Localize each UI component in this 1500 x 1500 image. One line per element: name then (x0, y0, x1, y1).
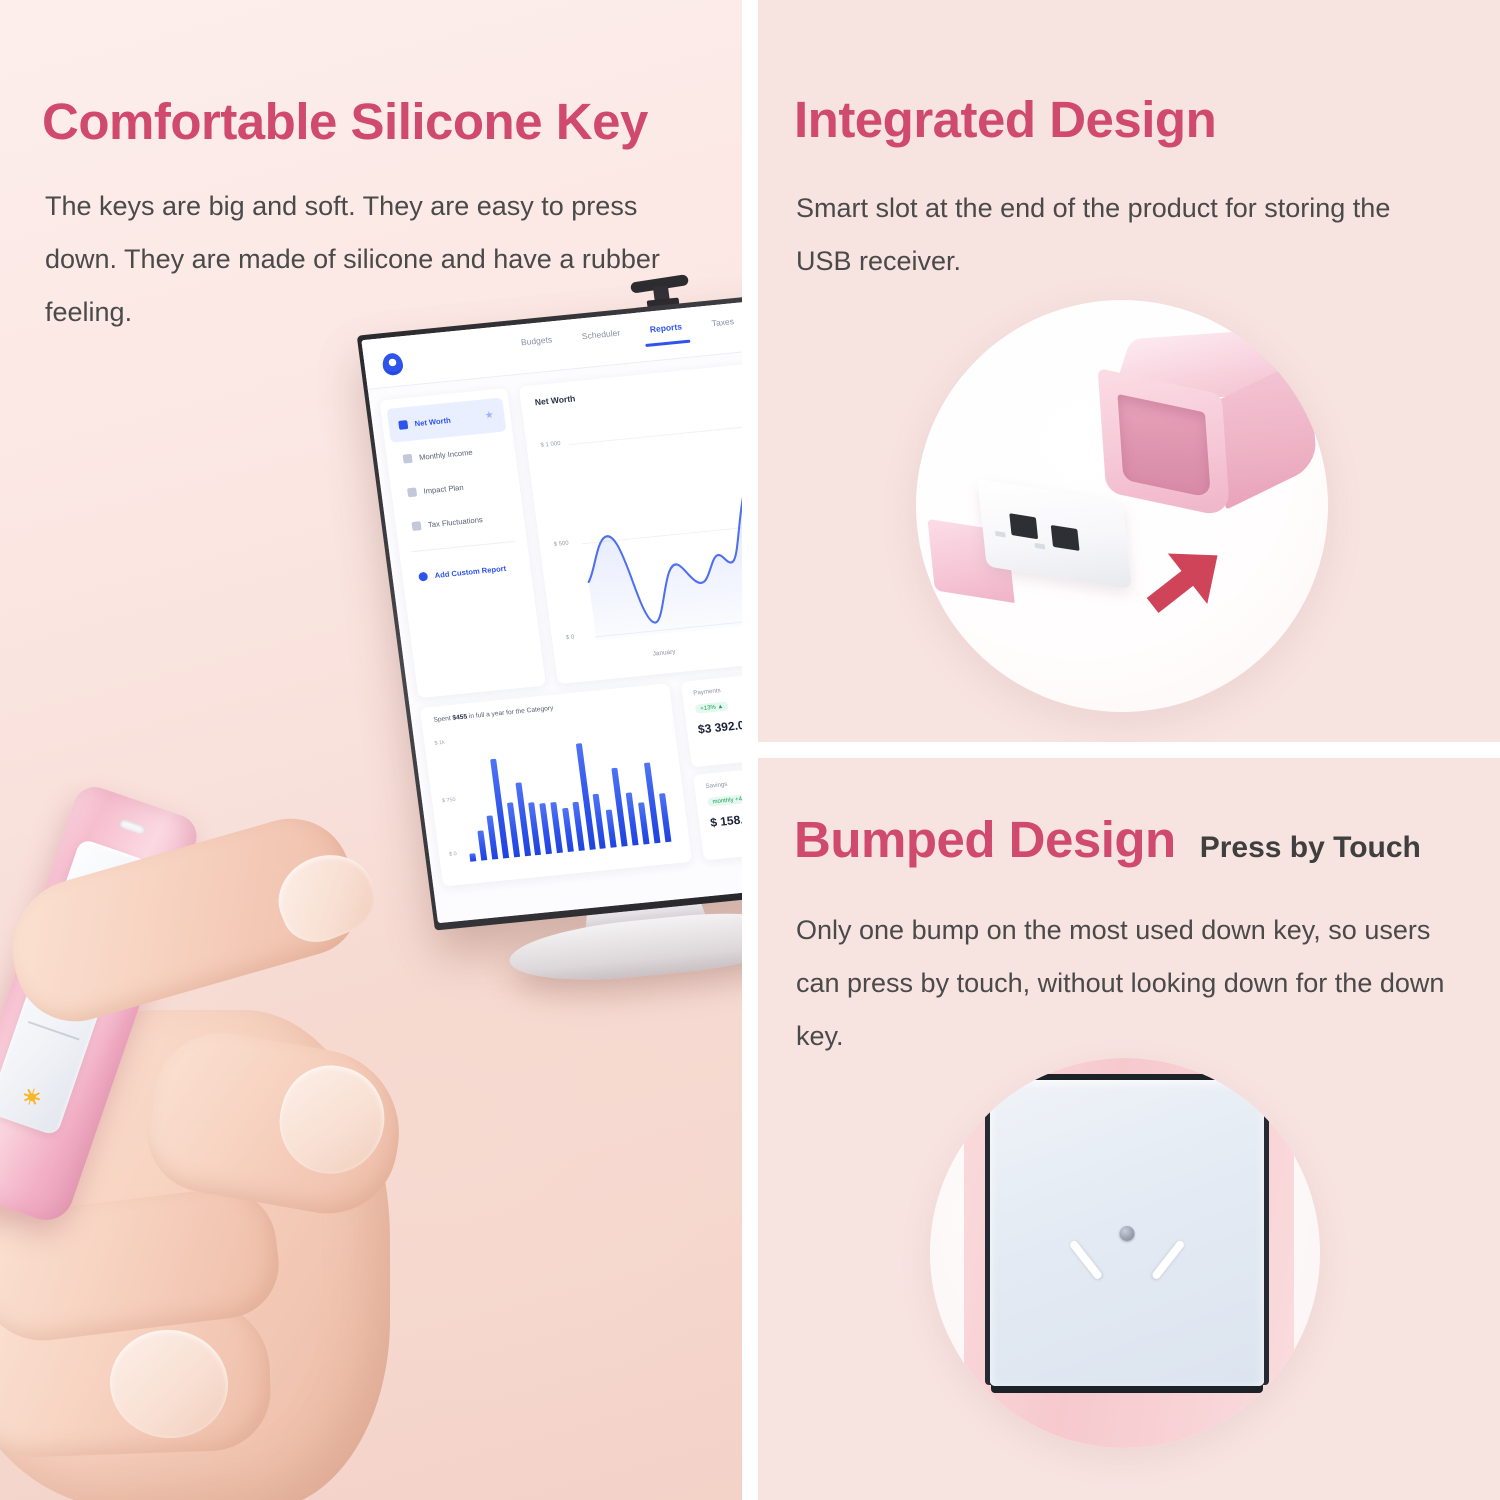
usb-receiver-dongle (925, 471, 1148, 605)
panel-body-silicone: The keys are big and soft. They are easy… (45, 180, 705, 339)
down-key[interactable] (990, 1080, 1264, 1386)
usb-receiver-illustration (916, 300, 1328, 712)
net-worth-card: Net Worth $ 1 000 $ 500 $ 0 (519, 361, 742, 684)
bulb-icon (407, 487, 417, 497)
panel-heading-integrated: Integrated Design (794, 90, 1216, 149)
panel-subheading-press-by-touch: Press by Touch (1200, 831, 1421, 865)
key-divider (28, 1021, 80, 1040)
stat-value: $3 392.00 (697, 717, 742, 736)
bar-chart-title: Spent $455 in full a year for the Catego… (433, 705, 554, 724)
bar (659, 793, 671, 842)
savings-stat-card: Savings ⋮ monthly +43% ▲ $ 158.74 (693, 761, 742, 860)
panel-heading-bumped: Bumped Design (794, 810, 1176, 869)
panel-body-bumped: Only one bump on the most used down key,… (796, 904, 1456, 1063)
panel-integrated-design: Integrated Design Smart slot at the end … (758, 0, 1500, 742)
plus-circle-icon (418, 571, 428, 581)
tab-taxes[interactable]: Taxes (711, 316, 735, 336)
sidebar-add-label: Add Custom Report (434, 563, 507, 579)
bar (540, 803, 553, 855)
bar (550, 801, 563, 853)
infographic-page: Budgets Scheduler Reports Taxes Net Wort… (0, 0, 1500, 1500)
sidebar-item-label: Net Worth (414, 415, 451, 428)
bumped-heading-row: Bumped Design Press by Touch (794, 810, 1421, 869)
panel-bumped-design: Bumped Design Press by Touch Only one bu… (758, 758, 1500, 1500)
bar (593, 793, 606, 849)
net-worth-ytick: $ 0 (566, 634, 575, 641)
sidebar-add-custom-report[interactable]: Add Custom Report (407, 549, 527, 594)
panel-comfortable-silicone-key: Budgets Scheduler Reports Taxes Net Wort… (0, 0, 742, 1500)
net-worth-xtick: January (652, 648, 676, 657)
star-icon[interactable] (485, 411, 494, 420)
chart-icon (398, 420, 408, 430)
bar-ytick: $ 1k (434, 740, 445, 747)
app-logo-icon (381, 352, 404, 376)
panel-body-integrated: Smart slot at the end of the product for… (796, 182, 1416, 288)
bar (572, 802, 584, 851)
net-worth-area-chart (568, 417, 742, 642)
payments-stat-card: Payments ⋮ +13% ▲ $3 392.00 (681, 668, 742, 767)
bar (606, 809, 617, 848)
net-worth-title: Net Worth (534, 393, 576, 407)
stat-value: $ 158.74 (709, 811, 742, 830)
hand-holding-presenter (0, 830, 520, 1500)
tactile-bump (1120, 1226, 1135, 1241)
wave-icon (411, 521, 421, 531)
stat-label: Payments (693, 687, 721, 697)
bar (562, 808, 574, 852)
dashboard-sidebar: Net Worth Monthly Income Impact Plan (379, 388, 546, 698)
sidebar-item-label: Monthly Income (418, 447, 473, 461)
sidebar-item-label: Impact Plan (423, 482, 464, 495)
panel-heading-silicone: Comfortable Silicone Key (42, 92, 648, 151)
trend-icon (403, 453, 413, 463)
sidebar-item-label: Tax Fluctuations (427, 515, 483, 529)
stat-badge: +13% ▲ (695, 701, 729, 713)
stat-label: Savings (705, 781, 728, 790)
bar-ytick: $ 750 (442, 797, 456, 804)
bar (626, 793, 639, 846)
bumped-key-macro-illustration (930, 1058, 1320, 1448)
net-worth-ytick: $ 1 000 (540, 441, 561, 449)
laser-sun-icon[interactable] (21, 1086, 43, 1108)
net-worth-ytick: $ 500 (553, 541, 569, 548)
stat-badge: monthly +43% ▲ (707, 792, 742, 806)
insert-arrow-icon (1133, 529, 1239, 631)
bar (638, 802, 649, 844)
